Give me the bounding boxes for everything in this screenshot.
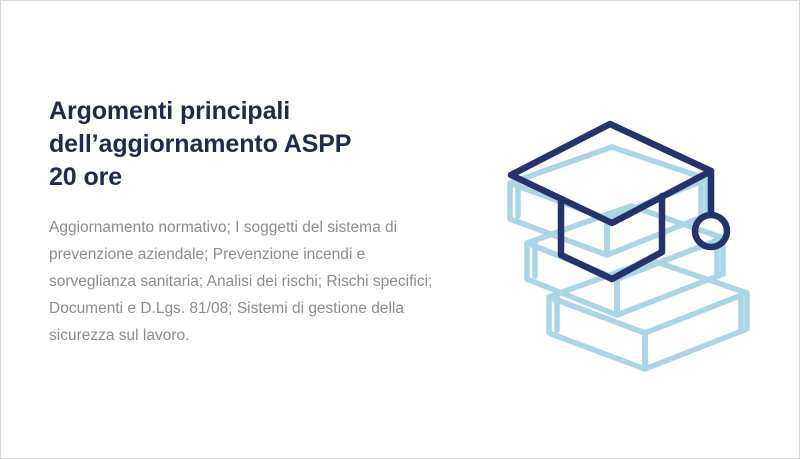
page-title: Argomenti principali dell’aggiornamento … xyxy=(49,95,449,194)
topics-description: Aggiornamento normativo; I soggetti del … xyxy=(49,194,449,349)
text-column: Argomenti principali dell’aggiornamento … xyxy=(49,95,449,349)
graduation-cap-on-books-illustration xyxy=(479,83,783,379)
course-topics-card: Argomenti principali dell’aggiornamento … xyxy=(0,0,800,459)
illustration-svg xyxy=(479,83,783,379)
